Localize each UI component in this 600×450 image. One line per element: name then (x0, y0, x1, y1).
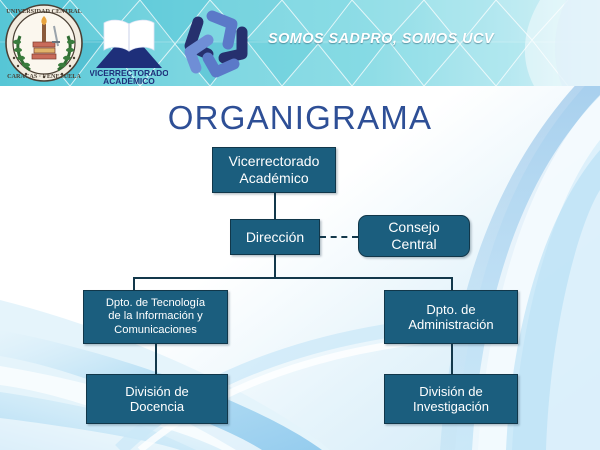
edge-bus-to-dpto-administracion (451, 277, 453, 291)
node-dpto-admin-line2: Administración (404, 317, 497, 332)
edge-direccion-trunk (274, 254, 276, 278)
node-division-docencia[interactable]: División de Docencia (86, 374, 228, 424)
edge-bus-to-dpto-tic (133, 277, 135, 291)
edge-direccion-consejo-dashed (320, 236, 358, 238)
node-consejo-line2: Central (384, 236, 443, 253)
node-division-investigacion-line2: Investigación (409, 399, 493, 414)
node-dpto-admin-line1: Dpto. de (404, 302, 497, 317)
node-direccion[interactable]: Dirección (230, 219, 320, 255)
node-dpto-tic-line2: de la Información y (102, 310, 209, 323)
node-consejo-line1: Consejo (384, 219, 443, 236)
node-dpto-tecnologia-informacion-comunicaciones[interactable]: Dpto. de Tecnología de la Información y … (83, 290, 228, 344)
node-division-investigacion[interactable]: División de Investigación (384, 374, 518, 424)
organigrama-chart: Vicerrectorado Académico Dirección Conse… (0, 0, 600, 450)
node-dpto-administracion[interactable]: Dpto. de Administración (384, 290, 518, 344)
node-dpto-tic-line1: Dpto. de Tecnología (102, 297, 209, 310)
node-division-docencia-line1: División de (121, 384, 193, 399)
edge-level2-bus (133, 277, 453, 279)
node-vicerrectorado-line1: Vicerrectorado (225, 153, 324, 170)
node-division-docencia-line2: Docencia (121, 399, 193, 414)
node-vicerrectorado-academico[interactable]: Vicerrectorado Académico (212, 147, 336, 193)
node-vicerrectorado-line2: Académico (225, 170, 324, 187)
node-consejo-central[interactable]: Consejo Central (358, 215, 470, 257)
node-division-investigacion-line1: División de (409, 384, 493, 399)
node-dpto-tic-line3: Comunicaciones (102, 324, 209, 337)
edge-vicerrectorado-direccion (274, 193, 276, 219)
node-direccion-line1: Dirección (242, 229, 308, 246)
edge-dpto-administracion-division-investigacion (451, 344, 453, 374)
edge-dpto-tic-division-docencia (155, 344, 157, 374)
slide-canvas: UNIVERSIDAD CENTRAL CARACAS · VENEZUELA (0, 0, 600, 450)
